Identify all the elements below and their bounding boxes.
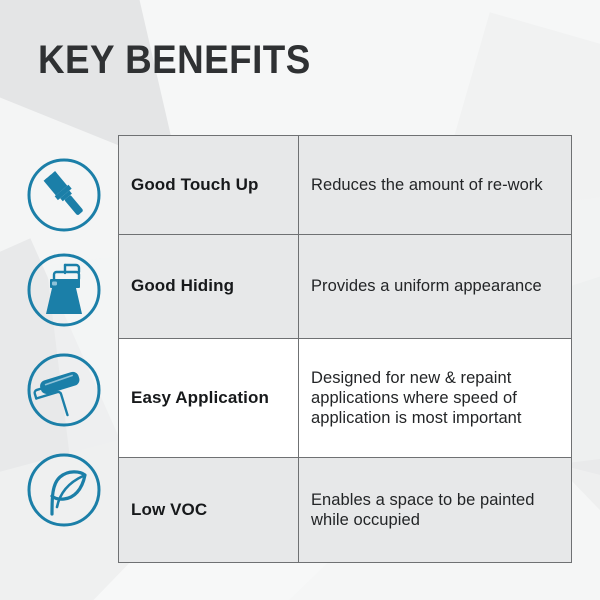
benefit-description: Reduces the amount of re-work [299,136,572,235]
benefit-icon-leaf [26,442,102,537]
benefit-label: Low VOC [119,458,299,563]
table-row: Good Hiding Provides a uniform appearanc… [119,235,572,339]
benefit-icon-rail [26,147,102,537]
leaf-icon [26,452,102,528]
benefit-description: Designed for new & repaint applications … [299,339,572,458]
key-benefits-infographic: KEY BENEFITS [0,0,600,600]
benefit-icon-paintbrush [26,147,102,242]
benefit-icon-roller-coverage [26,242,102,338]
paint-roller-coverage-icon [26,252,102,328]
benefit-label: Good Touch Up [119,136,299,235]
benefit-icon-roller-angled [26,338,102,442]
paint-roller-angled-icon [26,352,102,428]
benefit-label: Easy Application [119,339,299,458]
benefit-description: Provides a uniform appearance [299,235,572,339]
benefits-table: Good Touch Up Reduces the amount of re-w… [118,135,572,563]
table-row: Easy Application Designed for new & repa… [119,339,572,458]
benefit-description: Enables a space to be painted while occu… [299,458,572,563]
table-row: Low VOC Enables a space to be painted wh… [119,458,572,563]
paintbrush-icon [26,157,102,233]
table-row: Good Touch Up Reduces the amount of re-w… [119,136,572,235]
benefit-label: Good Hiding [119,235,299,339]
page-title: KEY BENEFITS [38,38,311,83]
